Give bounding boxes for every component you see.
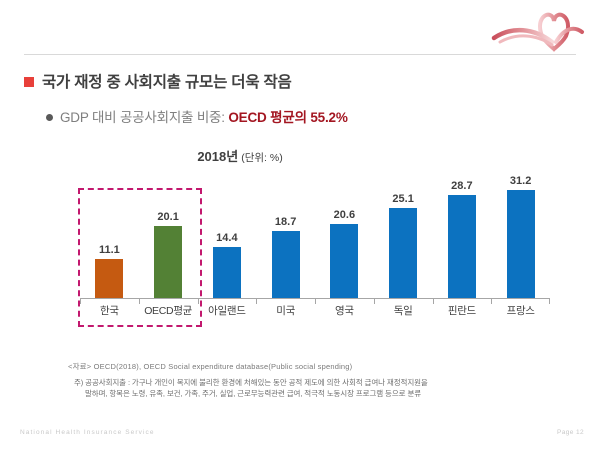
subheadline-accent: OECD 평균의 55.2% — [228, 110, 347, 125]
subheadline: GDP 대비 공공사회지출 비중: OECD 평균의 55.2% — [46, 106, 348, 126]
subheadline-text: GDP 대비 공공사회지출 비중: OECD 평균의 55.2% — [60, 106, 348, 126]
header-divider — [24, 54, 576, 55]
bar-value-label: 14.4 — [216, 233, 237, 244]
definition-note-line-2: 말하며, 항목은 노령, 유족, 보건, 가족, 주거, 실업, 근로무능력관련… — [74, 389, 524, 400]
bar-value-label: 28.7 — [451, 181, 472, 192]
x-category-label: 미국 — [256, 303, 315, 321]
bar-value-label: 11.1 — [99, 245, 120, 256]
footer-brand: National Health Insurance Service — [20, 429, 155, 436]
bar-rect — [95, 259, 123, 299]
slide-canvas: 국가 재정 중 사회지출 규모는 더욱 작음 GDP 대비 공공사회지출 비중:… — [0, 0, 600, 450]
chart-plot-area: 11.120.114.418.720.625.128.731.2 한국OECD평… — [80, 176, 550, 321]
x-category-label: 아일랜드 — [198, 303, 257, 321]
bar-rect — [330, 224, 358, 299]
bar-series: 11.120.114.418.720.625.128.731.2 — [80, 176, 550, 299]
bar-rect — [213, 247, 241, 299]
bar-rect — [389, 208, 417, 299]
bar-group: 31.2 — [491, 176, 550, 299]
x-category-label: 한국 — [80, 303, 139, 321]
chart-title: 2018년(단위: %) — [90, 146, 390, 165]
bar-group: 20.1 — [139, 176, 198, 299]
bar-value-label: 20.1 — [157, 212, 178, 223]
bar-group: 28.7 — [433, 176, 492, 299]
headline-text: 국가 재정 중 사회지출 규모는 더욱 작음 — [42, 70, 292, 92]
x-category-label: 핀란드 — [433, 303, 492, 321]
bar-group: 11.1 — [80, 176, 139, 299]
bar-rect — [448, 195, 476, 299]
heart-ribbon-logo — [490, 2, 586, 52]
footer-page-number: Page 12 — [557, 429, 584, 436]
chart-unit-label: (단위: %) — [241, 152, 282, 164]
x-category-label: 영국 — [315, 303, 374, 321]
x-category-label: 프랑스 — [491, 303, 550, 321]
bar-value-label: 25.1 — [392, 194, 413, 205]
subheadline-prefix: GDP 대비 공공사회지출 비중: — [60, 110, 228, 125]
chart-category-labels: 한국OECD평균아일랜드미국영국독일핀란드프랑스 — [80, 303, 550, 321]
source-note: <자료> OECD(2018), OECD Social expenditure… — [68, 361, 352, 372]
bar-group: 18.7 — [256, 176, 315, 299]
definition-note-line-1: 주) 공공사회지출 : 가구나 개인이 복지에 불리한 환경에 처해있는 동안 … — [74, 378, 524, 389]
bar-group: 20.6 — [315, 176, 374, 299]
bar-rect — [272, 231, 300, 299]
bar-group: 14.4 — [198, 176, 257, 299]
definition-note: 주) 공공사회지출 : 가구나 개인이 복지에 불리한 환경에 처해있는 동안 … — [74, 378, 524, 400]
bar-value-label: 18.7 — [275, 217, 296, 228]
dot-bullet-icon — [46, 114, 53, 121]
chart-title-year: 2018년 — [197, 149, 238, 164]
bar-rect — [507, 190, 535, 299]
x-category-label: OECD평균 — [139, 303, 198, 321]
bar-value-label: 31.2 — [510, 176, 531, 187]
bar-group: 25.1 — [374, 176, 433, 299]
x-category-label: 독일 — [374, 303, 433, 321]
bar-chart: 2018년(단위: %) 11.120.114.418.720.625.128.… — [60, 146, 550, 346]
bar-rect — [154, 226, 182, 299]
bar-value-label: 20.6 — [334, 210, 355, 221]
square-bullet-icon — [24, 77, 34, 87]
headline: 국가 재정 중 사회지출 규모는 더욱 작음 — [24, 70, 292, 92]
